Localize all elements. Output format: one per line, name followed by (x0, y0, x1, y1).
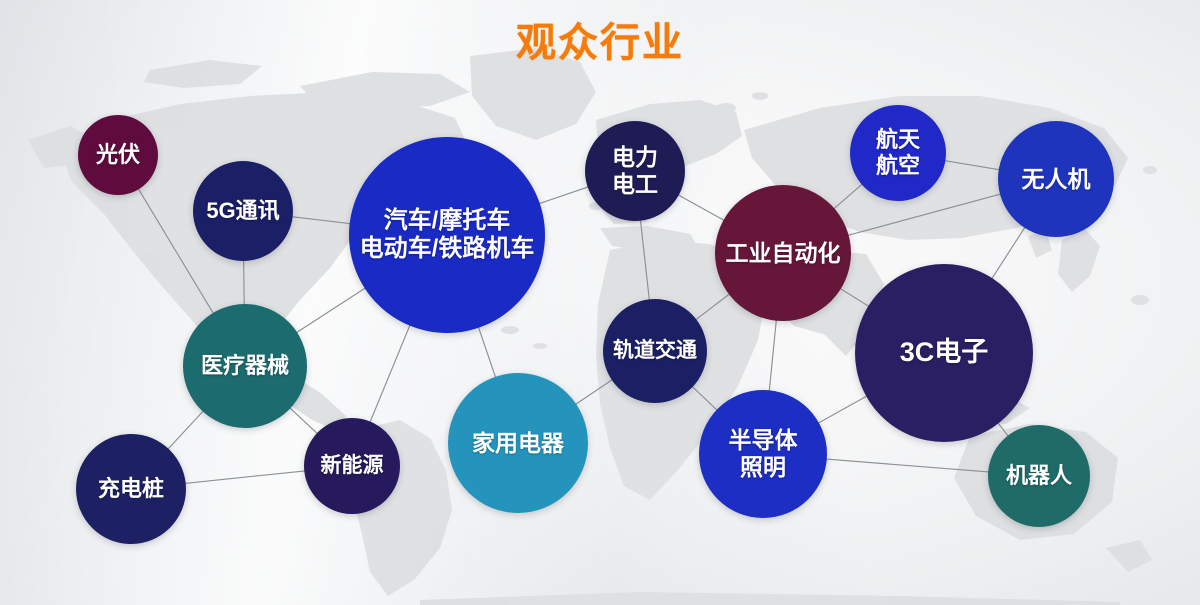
bubble-label: 新能源 (317, 454, 388, 478)
bubble-xinnengyuan[interactable]: 新能源 (304, 418, 400, 514)
link-gongye-bandaoti (769, 319, 776, 393)
bubble-guangfu[interactable]: 光伏 (78, 115, 158, 195)
bubble-label: 3C电子 (896, 337, 993, 368)
link-qiche-jiayong (478, 326, 496, 379)
bubble-label: 光伏 (92, 142, 144, 168)
bubble-wurenji[interactable]: 无人机 (998, 121, 1114, 237)
bubble-jiayong[interactable]: 家用电器 (448, 373, 588, 513)
page-title: 观众行业 (0, 10, 1200, 68)
bubble-label: 半导体 照明 (725, 427, 802, 480)
link-gongye-3c (839, 288, 870, 307)
bubble-label: 5G通讯 (202, 198, 283, 224)
bubble-label: 航天 航空 (872, 127, 924, 178)
link-qiche-dianli (538, 186, 590, 204)
link-hangtian-wurenji (943, 160, 1000, 169)
bubble-gongye[interactable]: 工业自动化 (715, 185, 851, 321)
link-5g-qiche (291, 217, 352, 224)
bubble-5g[interactable]: 5G通讯 (193, 161, 293, 261)
bubble-dianli[interactable]: 电力 电工 (585, 121, 685, 221)
bubble-label: 机器人 (1002, 463, 1076, 489)
bubble-label: 医疗器械 (197, 353, 293, 379)
bubble-hangtian[interactable]: 航天 航空 (850, 105, 946, 201)
link-guidao-bandaoti (691, 386, 718, 412)
link-gongye-wurenji (847, 194, 1002, 236)
bubble-chongdianzhuang[interactable]: 充电桩 (76, 434, 186, 544)
bubble-jiqiren[interactable]: 机器人 (988, 425, 1090, 527)
link-qiche-xinnengyuan (369, 324, 410, 424)
bubble-label: 工业自动化 (722, 240, 845, 267)
bubble-guidao[interactable]: 轨道交通 (603, 299, 707, 403)
slide-canvas: 观众行业 光伏5G通讯汽车/摩托车 电动车/铁路机车医疗器械充电桩新能源家用电器… (0, 0, 1200, 605)
bubble-label: 汽车/摩托车 电动车/铁路机车 (356, 207, 539, 263)
link-wurenji-3c (991, 226, 1026, 280)
bubble-label: 充电桩 (94, 476, 168, 502)
bubble-label: 电力 电工 (608, 144, 662, 197)
bubble-label: 轨道交通 (609, 339, 701, 363)
link-yiliao-xinnengyuan (289, 407, 319, 435)
bubble-label: 无人机 (1018, 166, 1095, 193)
bubble-yiliao[interactable]: 医疗器械 (183, 304, 307, 428)
link-qiche-yiliao (295, 287, 366, 333)
bubble-3c[interactable]: 3C电子 (855, 264, 1033, 442)
link-3c-bandaoti (817, 395, 868, 423)
link-dianli-guidao (640, 219, 649, 302)
link-gongye-guidao (695, 293, 731, 320)
bubble-qiche[interactable]: 汽车/摩托车 电动车/铁路机车 (349, 137, 545, 333)
bubble-label: 家用电器 (468, 430, 568, 457)
link-5g-yiliao (244, 259, 245, 306)
link-dianli-gongye (677, 194, 725, 221)
link-chongdianzhuang-xinnengyuan (184, 471, 307, 484)
bubble-bandaoti[interactable]: 半导体 照明 (699, 390, 827, 518)
link-bandaoti-jiqiren (825, 459, 990, 472)
link-yiliao-chongdianzhuang (167, 410, 204, 450)
link-jiayong-guidao (574, 379, 613, 405)
link-gongye-hangtian (833, 183, 863, 210)
